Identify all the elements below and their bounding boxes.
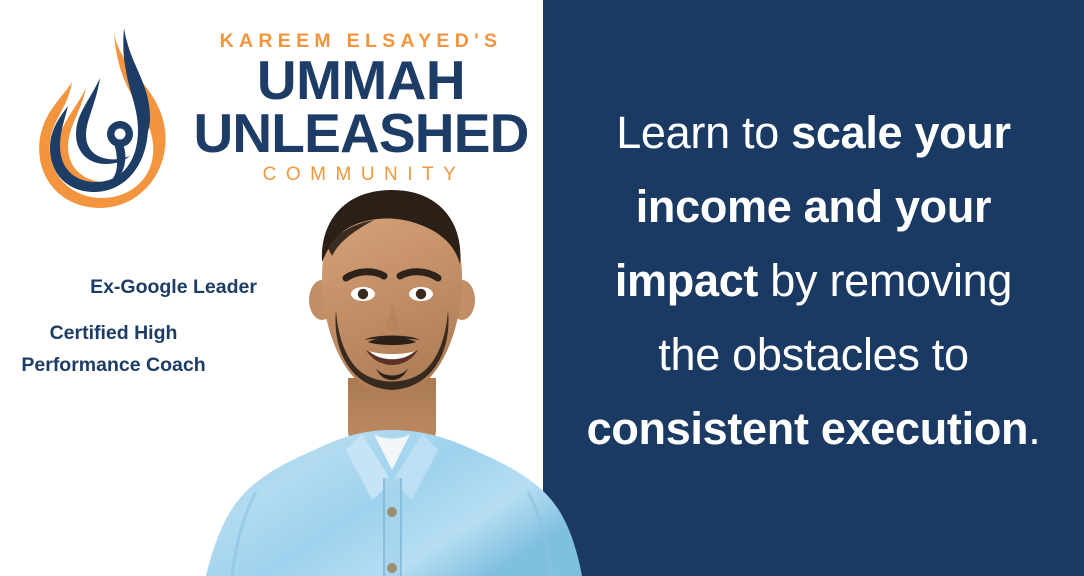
headline-plain: by removing [758, 255, 1012, 306]
portrait-photo [196, 182, 592, 576]
headline-line-3: impact by removing [549, 244, 1078, 318]
headline-line-5: consistent execution. [549, 392, 1078, 466]
credential-certified-high: Certified High [0, 322, 227, 345]
headline-text: Learn to scale yourincome and yourimpact… [549, 96, 1078, 466]
headline-emphasis: income and your [636, 181, 992, 232]
flame-logo-icon [24, 26, 184, 216]
credential-ex-google: Ex-Google Leader [0, 276, 347, 299]
brand-word-unleashed: UNLEASHED [180, 107, 542, 160]
headline-emphasis: impact [615, 255, 758, 306]
headline-line-4: the obstacles to [549, 318, 1078, 392]
credential-performance-coach: Performance Coach [0, 354, 227, 377]
headline-line-1: Learn to scale your [549, 96, 1078, 170]
headline-emphasis: scale your [791, 107, 1011, 158]
headline-plain: the obstacles to [658, 329, 968, 380]
brand-logo-lockup: KAREEM ELSAYED'S UMMAH UNLEASHED COMMUNI… [18, 22, 538, 202]
headline-line-2: income and your [549, 170, 1078, 244]
headline-emphasis: consistent execution [587, 403, 1029, 454]
brand-word-ummah: UMMAH [180, 54, 542, 107]
headline-plain: . [1028, 403, 1040, 454]
promo-banner: KAREEM ELSAYED'S UMMAH UNLEASHED COMMUNI… [0, 0, 1084, 576]
brand-wordmark: KAREEM ELSAYED'S UMMAH UNLEASHED COMMUNI… [180, 28, 542, 190]
headline-plain: Learn to [616, 107, 791, 158]
